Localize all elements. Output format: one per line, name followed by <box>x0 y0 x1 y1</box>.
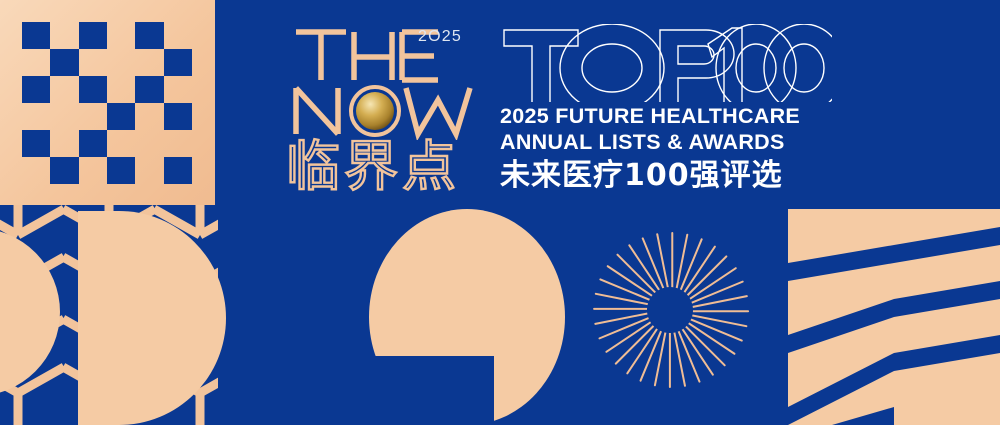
checker-cell-4-5 <box>164 130 192 157</box>
checker-cell-0-2 <box>79 22 107 49</box>
checker-cell-5-0 <box>22 157 50 184</box>
subtitle-english-line1: 2025 FUTURE HEALTHCARE <box>500 104 845 128</box>
notch-circle-cutout <box>369 356 494 425</box>
checker-cell-2-4 <box>135 76 163 103</box>
checker-cell-0-1 <box>50 22 78 49</box>
checker-cell-2-1 <box>50 76 78 103</box>
checker-cell-0-0 <box>22 22 50 49</box>
checker-cell-4-3 <box>107 130 135 157</box>
checker-cell-4-1 <box>50 130 78 157</box>
logo-year: 2O25 <box>418 28 462 46</box>
checker-cell-5-2 <box>79 157 107 184</box>
subtitle-chinese: 未来医疗100强评选 <box>500 158 845 194</box>
checker-cell-2-5 <box>164 76 192 103</box>
top100-outline-title <box>500 24 832 102</box>
checker-cell-3-1 <box>50 103 78 130</box>
checker-cell-5-4 <box>135 157 163 184</box>
headline-block: 2025 FUTURE HEALTHCARE ANNUAL LISTS & AW… <box>500 24 845 194</box>
checker-cell-3-4 <box>135 103 163 130</box>
checker-cell-1-5 <box>164 49 192 76</box>
checker-cell-3-5 <box>164 103 192 130</box>
checker-cell-1-0 <box>22 49 50 76</box>
checker-cell-2-0 <box>22 76 50 103</box>
checker-cell-0-3 <box>107 22 135 49</box>
subtitle-english-line2: ANNUAL LISTS & AWARDS <box>500 130 845 154</box>
checker-cell-4-4 <box>135 130 163 157</box>
checker-cell-5-5 <box>164 157 192 184</box>
checker-cell-5-3 <box>107 157 135 184</box>
checker-cell-3-3 <box>107 103 135 130</box>
checker-cell-3-0 <box>22 103 50 130</box>
checker-cell-1-1 <box>50 49 78 76</box>
checker-cell-0-4 <box>135 22 163 49</box>
checker-cell-2-3 <box>107 76 135 103</box>
event-banner: 2O25 临界点 2025 <box>0 0 1000 425</box>
checker-cell-3-2 <box>79 103 107 130</box>
checker-cell-5-1 <box>50 157 78 184</box>
checker-cell-0-5 <box>164 22 192 49</box>
checker-cell-1-2 <box>79 49 107 76</box>
sunburst-center-hub <box>647 287 693 333</box>
checker-cell-4-0 <box>22 130 50 157</box>
checker-cell-1-4 <box>135 49 163 76</box>
sunburst-decoration <box>592 232 748 388</box>
diagonal-stripes-decoration <box>788 209 1000 425</box>
the-now-logo: 2O25 临界点 <box>288 22 488 192</box>
checkerboard-grid <box>22 22 192 184</box>
checker-cell-1-3 <box>107 49 135 76</box>
checker-cell-4-2 <box>79 130 107 157</box>
logo-chinese-title: 临界点 <box>286 140 460 194</box>
checkerboard-panel <box>0 0 215 205</box>
checker-cell-2-2 <box>79 76 107 103</box>
circle-with-square-notch <box>369 209 565 425</box>
